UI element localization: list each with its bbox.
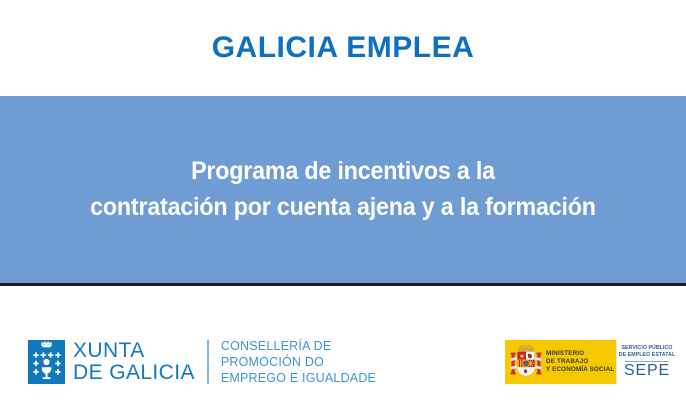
footer-logos-section: XUNTA DE GALICIA CONSELLERÍA DE PROMOCIÓ… [0, 286, 686, 410]
xunta-wordmark-line-2: DE GALICIA [73, 362, 195, 384]
program-banner-line-2: contratación por cuenta ajena y a la for… [30, 190, 657, 226]
conselleria-line-2: PROMOCIÓN DO [221, 354, 376, 370]
sepe-acronym: SEPE [624, 363, 670, 379]
page-title: GALICIA EMPLEA [212, 33, 475, 63]
ministerio-line-2: DE TRABAJO [546, 358, 614, 366]
ministerio-de-trabajo-logo: MINISTERIO DE TRABAJO Y ECONOMÍA SOCIAL [505, 340, 616, 384]
program-banner-line-1: Programa de incentivos a la [30, 154, 657, 190]
xunta-wordmark-line-1: XUNTA [73, 340, 195, 362]
program-banner: Programa de incentivos a la contratación… [0, 96, 686, 286]
poster-page: GALICIA EMPLEA Programa de incentivos a … [0, 0, 686, 410]
ministerio-sepe-lockup: MINISTERIO DE TRABAJO Y ECONOMÍA SOCIAL … [505, 340, 677, 384]
xunta-de-galicia-lockup: XUNTA DE GALICIA CONSELLERÍA DE PROMOCIÓ… [28, 340, 376, 384]
sepe-subtitle-line-1: SERVICIO PÚBLICO [619, 345, 675, 352]
xunta-de-galicia-wordmark: XUNTA DE GALICIA [73, 340, 195, 384]
ministerio-line-1: MINISTERIO [546, 350, 614, 358]
ministerio-wordmark: MINISTERIO DE TRABAJO Y ECONOMÍA SOCIAL [546, 350, 614, 375]
spain-coat-of-arms-icon [509, 342, 543, 382]
conselleria-line-1: CONSELLERÍA DE [221, 338, 376, 354]
header-section: GALICIA EMPLEA [0, 0, 686, 96]
conselleria-line-3: EMPREGO E IGUALDADE [221, 370, 376, 386]
lockup-divider [207, 340, 209, 384]
sepe-subtitle-line-2: DE EMPLEO ESTATAL [619, 352, 675, 359]
program-banner-text: Programa de incentivos a la contratación… [24, 154, 662, 225]
sepe-logo: SERVICIO PÚBLICO DE EMPLEO ESTATAL SEPE [616, 340, 677, 384]
conselleria-wordmark: CONSELLERÍA DE PROMOCIÓN DO EMPREGO E IG… [221, 340, 376, 384]
ministerio-line-3: Y ECONOMÍA SOCIAL [546, 366, 614, 374]
sepe-subtitle: SERVICIO PÚBLICO DE EMPLEO ESTATAL [619, 345, 675, 359]
xunta-de-galicia-chalice-emblem [28, 340, 65, 384]
